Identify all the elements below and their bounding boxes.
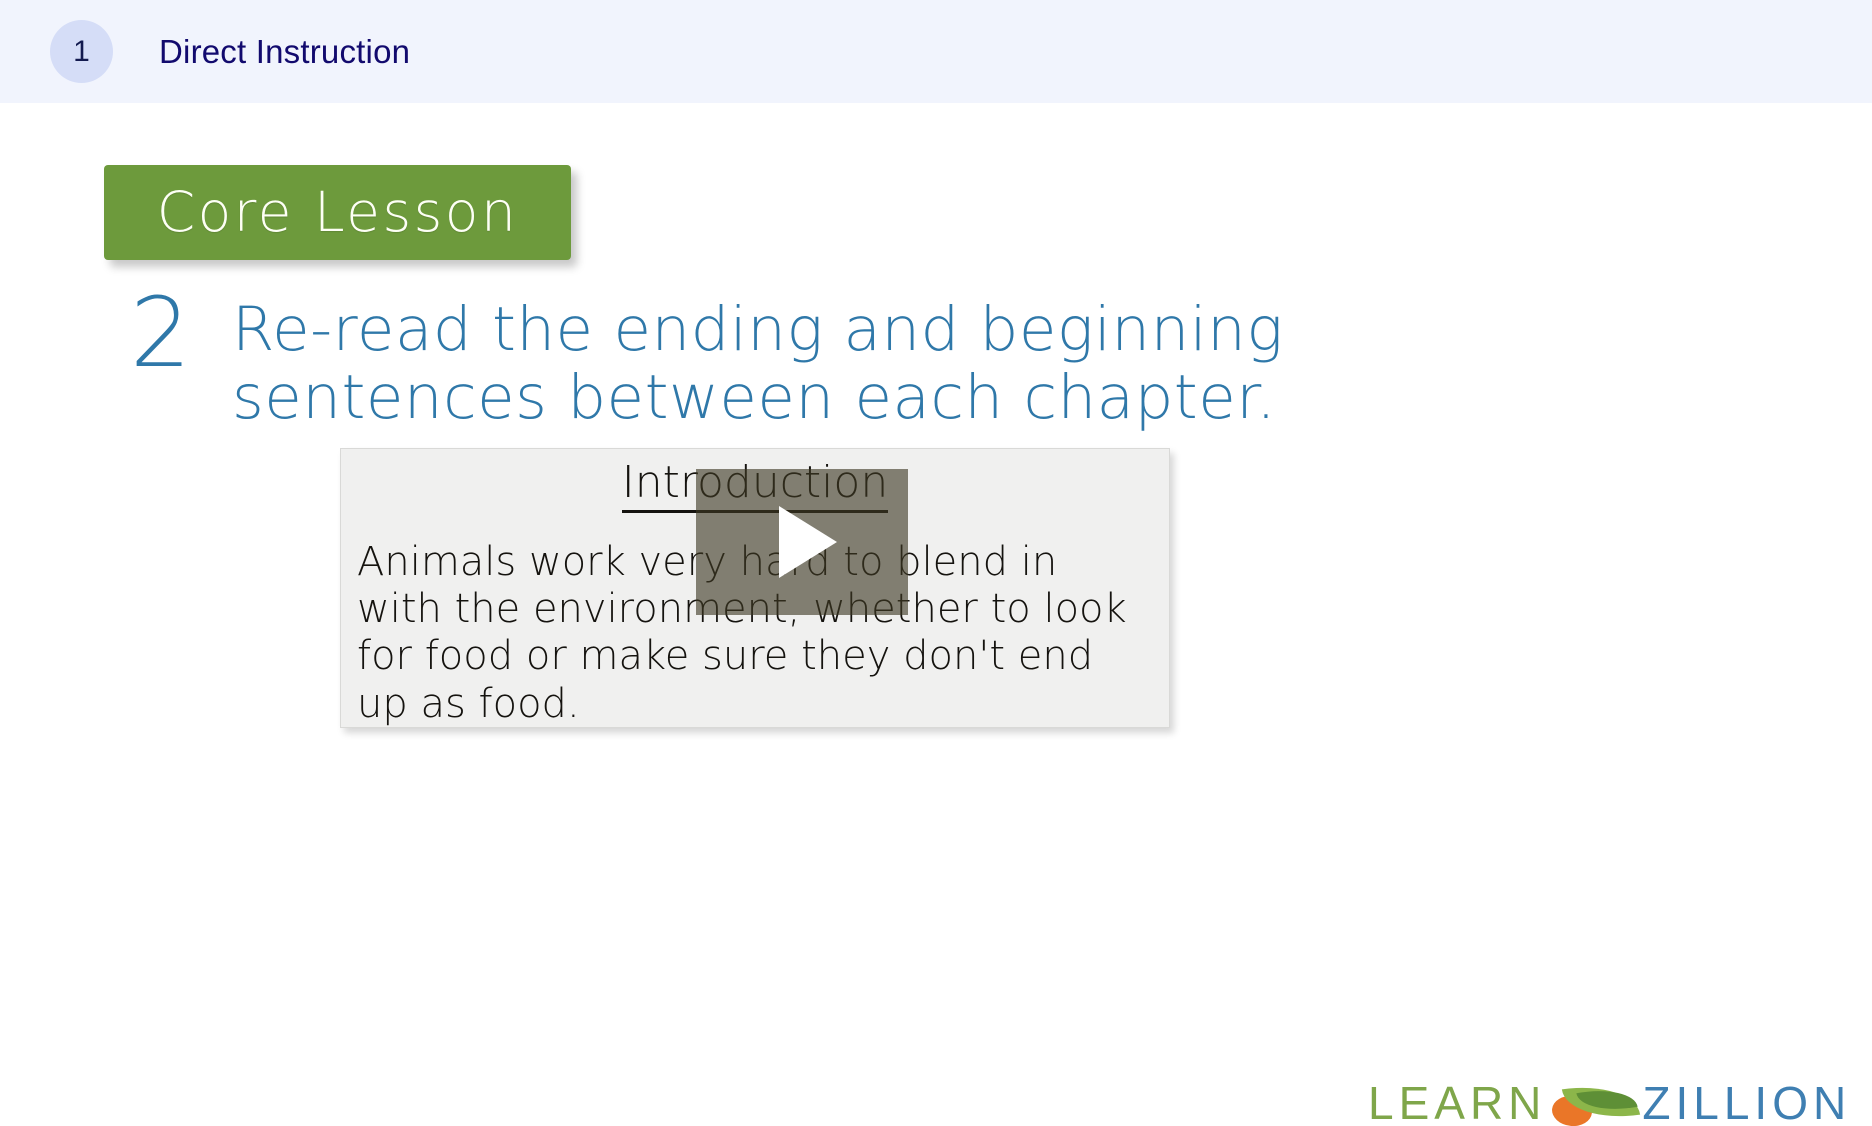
step-instruction-number: 2 [122,288,232,379]
step-number-badge-label: 1 [73,37,90,67]
logo-word-zillion: ZILLION [1642,1080,1851,1126]
passage-media-frame[interactable]: Introduction Animals work very hard to b… [340,448,1170,728]
play-triangle-icon [779,506,837,578]
video-play-button[interactable] [696,469,908,615]
step-instruction-line-1: Re-read the ending and beginning [232,296,1283,364]
page-title: Direct Instruction [159,33,410,71]
passage-line: for food or make sure they don't end [357,633,1149,680]
step-instruction-line-2: sentences between each chapter. [232,364,1283,432]
step-number-badge: 1 [50,20,113,83]
logo-word-learn: LEARN [1368,1080,1546,1126]
step-instruction-block: 2 Re-read the ending and beginning sente… [122,288,1382,433]
step-instruction-text: Re-read the ending and beginning sentenc… [232,288,1283,433]
passage-line: up as food. [357,681,1149,728]
core-lesson-banner: Core Lesson [104,165,571,260]
leaf-icon [1548,1074,1640,1126]
core-lesson-label: Core Lesson [157,185,519,240]
slide-canvas: Core Lesson 2 Re-read the ending and beg… [0,103,1872,1126]
lesson-step-header: 1 Direct Instruction [0,0,1872,103]
learnzillion-logo: LEARN ZILLION [1368,1072,1872,1126]
